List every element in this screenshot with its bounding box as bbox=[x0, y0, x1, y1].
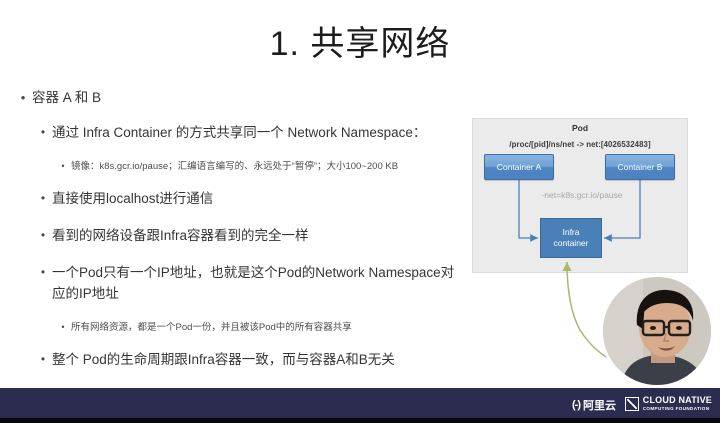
aliyun-logo: (-) 阿里云 bbox=[572, 397, 616, 413]
bullet-text: 直接使用localhost进行通信 bbox=[52, 188, 464, 209]
pause-image-label: -net=k8s.gcr.io/pause bbox=[502, 190, 662, 200]
page-title: 1. 共享网络 bbox=[0, 22, 720, 66]
bullet-item: •一个Pod只有一个IP地址，也就是这个Pod的Network Namespac… bbox=[38, 262, 464, 304]
bullet-text: 通过 Infra Container 的方式共享同一个 Network Name… bbox=[52, 122, 464, 143]
bullet-dot-icon: • bbox=[18, 88, 28, 108]
bullet-dot-icon: • bbox=[58, 159, 68, 174]
bullet-item: •容器 A 和 B bbox=[18, 88, 464, 108]
bullet-text: 容器 A 和 B bbox=[32, 88, 464, 108]
bullet-dot-icon: • bbox=[38, 225, 48, 246]
infra-label-line2: container bbox=[554, 238, 589, 248]
aliyun-logo-text: 阿里云 bbox=[583, 397, 616, 413]
bullet-text: 所有网络资源，都是一个Pod一份，并且被该Pod中的所有容器共享 bbox=[71, 320, 464, 335]
speaker-video-bubble[interactable] bbox=[600, 274, 714, 388]
infra-container-box: Infra container bbox=[540, 218, 602, 258]
cncf-subtitle: COMPUTING FOUNDATION bbox=[643, 407, 712, 412]
pod-network-diagram: -net=k8s.gcr.io/pause Pod /proc/[pid]/ns… bbox=[472, 118, 688, 273]
cncf-logo-icon bbox=[625, 397, 639, 411]
cncf-title: CLOUD NATIVE bbox=[643, 396, 712, 405]
bullet-item: •镜像：k8s.gcr.io/pause；汇编语言编写的、永远处于“暂停”；大小… bbox=[58, 159, 464, 174]
infra-label-line1: Infra bbox=[562, 227, 579, 237]
bullet-item: •整个 Pod的生命周期跟Infra容器一致，而与容器A和B无关 bbox=[38, 349, 464, 370]
footer-black-strip bbox=[0, 418, 720, 423]
bullet-item: •通过 Infra Container 的方式共享同一个 Network Nam… bbox=[38, 122, 464, 143]
container-b-box: Container B bbox=[605, 154, 675, 180]
bullet-list: •容器 A 和 B•通过 Infra Container 的方式共享同一个 Ne… bbox=[14, 88, 464, 386]
bullet-dot-icon: • bbox=[38, 349, 48, 370]
bullet-dot-icon: • bbox=[38, 262, 48, 283]
slide-canvas: 1. 共享网络 •容器 A 和 B•通过 Infra Container 的方式… bbox=[0, 0, 720, 423]
bullet-text: 一个Pod只有一个IP地址，也就是这个Pod的Network Namespace… bbox=[52, 262, 464, 304]
bullet-dot-icon: • bbox=[58, 320, 68, 335]
bullet-text: 镜像：k8s.gcr.io/pause；汇编语言编写的、永远处于“暂停”；大小1… bbox=[71, 159, 464, 174]
bullet-dot-icon: • bbox=[38, 188, 48, 209]
cncf-logo: CLOUD NATIVE COMPUTING FOUNDATION bbox=[625, 396, 712, 411]
pod-namespace-text: /proc/[pid]/ns/net -> net:[4026532483] bbox=[472, 140, 688, 149]
speaker-portrait bbox=[603, 277, 711, 385]
container-a-box: Container A bbox=[484, 154, 554, 180]
aliyun-logo-mark: (-) bbox=[572, 399, 580, 411]
bullet-text: 看到的网络设备跟Infra容器看到的完全一样 bbox=[52, 225, 464, 246]
bullet-item: •直接使用localhost进行通信 bbox=[38, 188, 464, 209]
cncf-logo-text: CLOUD NATIVE COMPUTING FOUNDATION bbox=[643, 396, 712, 411]
footer-bar: (-) 阿里云 CLOUD NATIVE COMPUTING FOUNDATIO… bbox=[0, 388, 720, 418]
pod-label: Pod bbox=[472, 123, 688, 133]
bullet-dot-icon: • bbox=[38, 122, 48, 143]
bullet-item: •所有网络资源，都是一个Pod一份，并且被该Pod中的所有容器共享 bbox=[58, 320, 464, 335]
bullet-text: 整个 Pod的生命周期跟Infra容器一致，而与容器A和B无关 bbox=[52, 349, 464, 370]
bullet-item: •看到的网络设备跟Infra容器看到的完全一样 bbox=[38, 225, 464, 246]
